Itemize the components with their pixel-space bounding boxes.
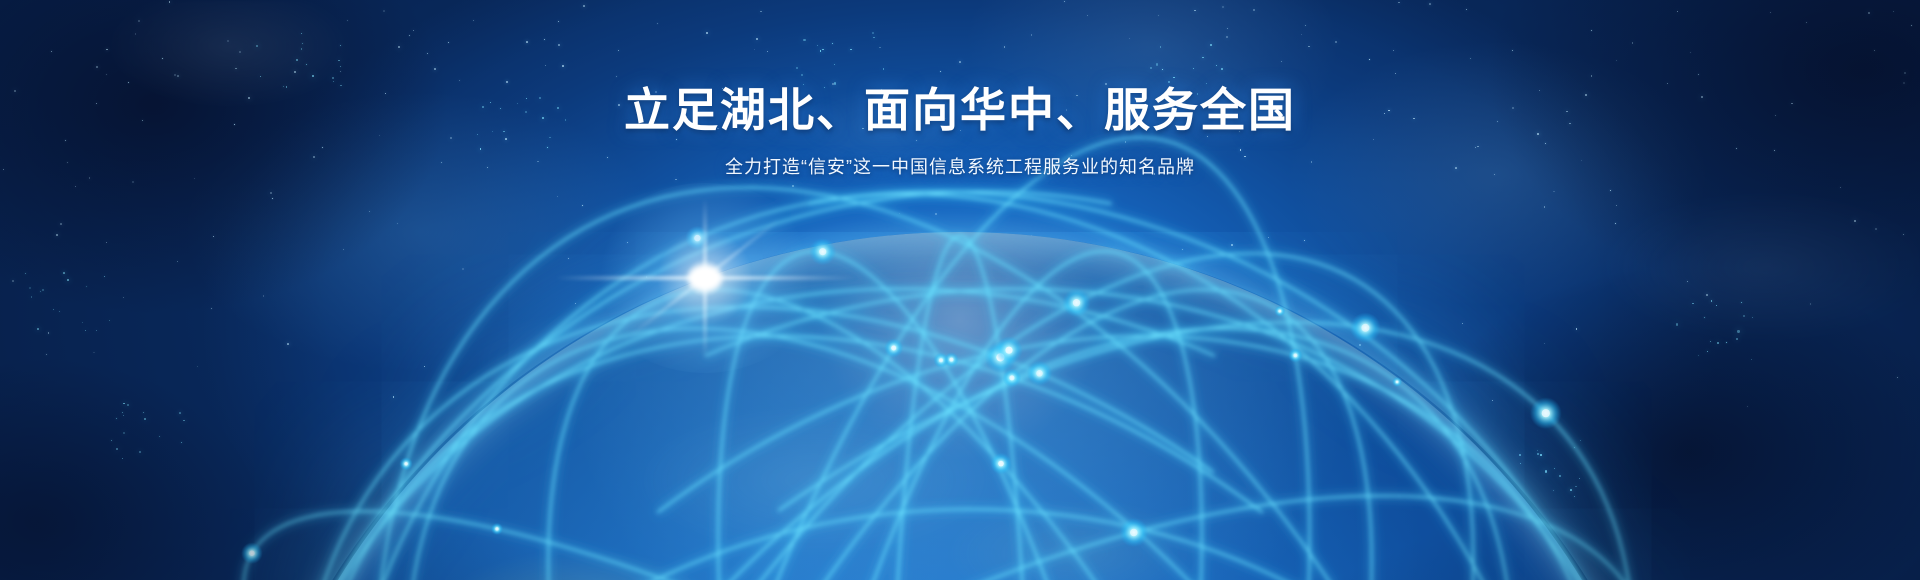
globe bbox=[230, 232, 1690, 580]
hero-banner: 立足湖北、面向华中、服务全国 全力打造“信安”这一中国信息系统工程服务业的知名品… bbox=[0, 0, 1920, 580]
banner-headline: 立足湖北、面向华中、服务全国 bbox=[0, 84, 1920, 137]
banner-subheadline: 全力打造“信安”这一中国信息系统工程服务业的知名品牌 bbox=[0, 153, 1920, 179]
banner-copy: 立足湖北、面向华中、服务全国 全力打造“信安”这一中国信息系统工程服务业的知名品… bbox=[0, 84, 1920, 179]
globe-rim-light bbox=[230, 232, 1690, 580]
